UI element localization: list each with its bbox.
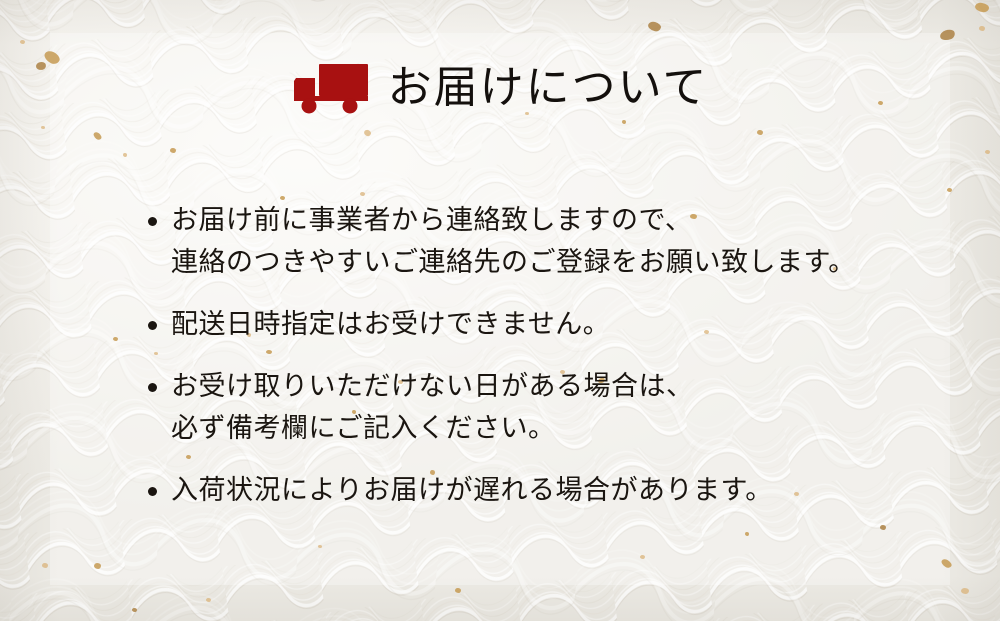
header-row: お届けについて bbox=[0, 62, 1000, 114]
notice-list: お届け前に事業者から連絡致しますので、 連絡のつきやすいご連絡先のご登録をお願い… bbox=[148, 200, 908, 512]
list-item-text: お受け取りいただけない日がある場合は、 必ず備考欄にご記入ください。 bbox=[171, 366, 908, 450]
page-title: お届けについて bbox=[388, 66, 709, 110]
list-item-text: お届け前に事業者から連絡致しますので、 連絡のつきやすいご連絡先のご登録をお願い… bbox=[171, 200, 908, 284]
notice-content: お届けについて お届け前に事業者から連絡致しますので、 連絡のつきやすいご連絡先… bbox=[0, 0, 1000, 621]
list-item: お届け前に事業者から連絡致しますので、 連絡のつきやすいご連絡先のご登録をお願い… bbox=[148, 200, 908, 284]
delivery-truck-icon bbox=[292, 62, 370, 114]
notice-line: 配送日時指定はお受けできません。 bbox=[171, 304, 908, 346]
bullet-dot-icon bbox=[148, 383, 157, 392]
notice-line: 入荷状況によりお届けが遅れる場合があります。 bbox=[171, 470, 908, 512]
list-item: 入荷状況によりお届けが遅れる場合があります。 bbox=[148, 470, 908, 512]
list-item-text: 配送日時指定はお受けできません。 bbox=[171, 304, 908, 346]
list-item-text: 入荷状況によりお届けが遅れる場合があります。 bbox=[171, 470, 908, 512]
bullet-dot-icon bbox=[148, 217, 157, 226]
notice-line: 必ず備考欄にご記入ください。 bbox=[171, 408, 908, 450]
notice-line: 連絡のつきやすいご連絡先のご登録をお願い致します。 bbox=[171, 242, 908, 284]
notice-line: お受け取りいただけない日がある場合は、 bbox=[171, 366, 908, 408]
notice-line: お届け前に事業者から連絡致しますので、 bbox=[171, 200, 908, 242]
bullet-dot-icon bbox=[148, 487, 157, 496]
bullet-dot-icon bbox=[148, 321, 157, 330]
delivery-notice-banner: お届けについて お届け前に事業者から連絡致しますので、 連絡のつきやすいご連絡先… bbox=[0, 0, 1000, 621]
list-item: お受け取りいただけない日がある場合は、 必ず備考欄にご記入ください。 bbox=[148, 366, 908, 450]
list-item: 配送日時指定はお受けできません。 bbox=[148, 304, 908, 346]
